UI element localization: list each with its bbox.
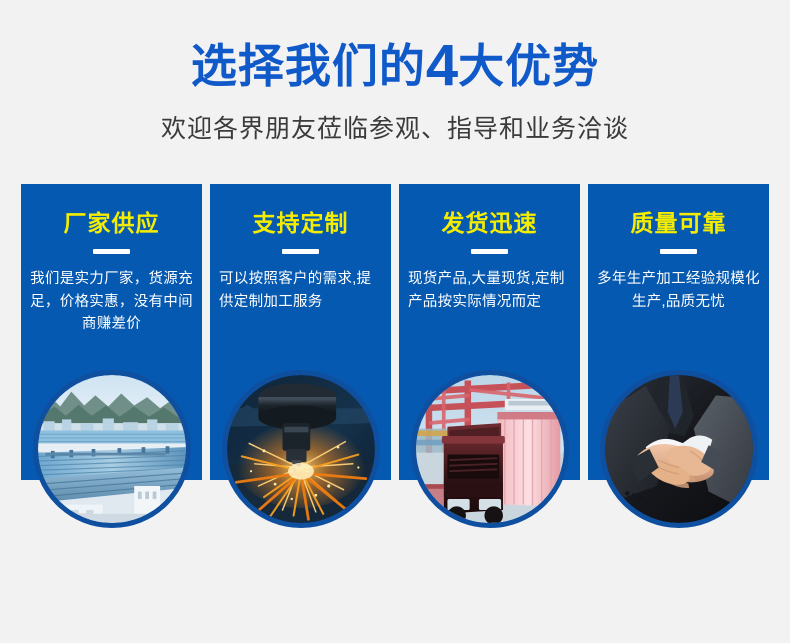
bottom-spacer <box>0 583 790 643</box>
advantages-banner: 选择我们的4大优势 欢迎各界朋友莅临参观、指导和业务洽谈 厂家供应 我们是实力厂… <box>0 0 790 643</box>
advantage-card-body: 现货产品,大量现货,定制产品按实际情况而定 <box>399 254 580 313</box>
advantage-photo-ring <box>600 370 758 528</box>
advantage-card-title: 支持定制 <box>210 184 391 236</box>
advantage-card-body: 多年生产加工经验规模化生产,品质无忧 <box>588 254 769 313</box>
advantage-card-title: 发货迅速 <box>399 184 580 236</box>
advantage-card-title: 厂家供应 <box>21 184 202 236</box>
advantage-card[interactable]: 支持定制 可以按照客户的需求,提供定制加工服务 <box>210 184 391 480</box>
delivery-truck-photo <box>416 375 564 523</box>
page-subtitle: 欢迎各界朋友莅临参观、指导和业务洽谈 <box>0 98 790 144</box>
business-handshake-photo <box>605 375 753 523</box>
advantage-photo-ring <box>33 370 191 528</box>
cnc-cutting-sparks-photo <box>227 375 375 523</box>
advantage-photo-ring <box>222 370 380 528</box>
advantage-card-list: 厂家供应 我们是实力厂家，货源充足，价格实惠，没有中间商赚差价 <box>21 184 769 544</box>
page-title: 选择我们的4大优势 <box>0 0 790 98</box>
banner-header: 选择我们的4大优势 欢迎各界朋友莅临参观、指导和业务洽谈 <box>0 0 790 144</box>
advantage-card[interactable]: 质量可靠 多年生产加工经验规模化生产,品质无忧 <box>588 184 769 480</box>
advantage-card-title: 质量可靠 <box>588 184 769 236</box>
advantage-card[interactable]: 厂家供应 我们是实力厂家，货源充足，价格实惠，没有中间商赚差价 <box>21 184 202 480</box>
page-title-prefix: 选择我们的 <box>191 40 426 92</box>
page-title-suffix: 大优势 <box>458 40 599 92</box>
advantage-card[interactable]: 发货迅速 现货产品,大量现货,定制产品按实际情况而定 <box>399 184 580 480</box>
factory-aerial-photo <box>38 375 186 523</box>
advantage-photo-ring <box>411 370 569 528</box>
advantage-card-body: 可以按照客户的需求,提供定制加工服务 <box>210 254 391 313</box>
page-title-number: 4 <box>426 33 458 98</box>
advantage-card-body: 我们是实力厂家，货源充足，价格实惠，没有中间商赚差价 <box>21 254 202 335</box>
